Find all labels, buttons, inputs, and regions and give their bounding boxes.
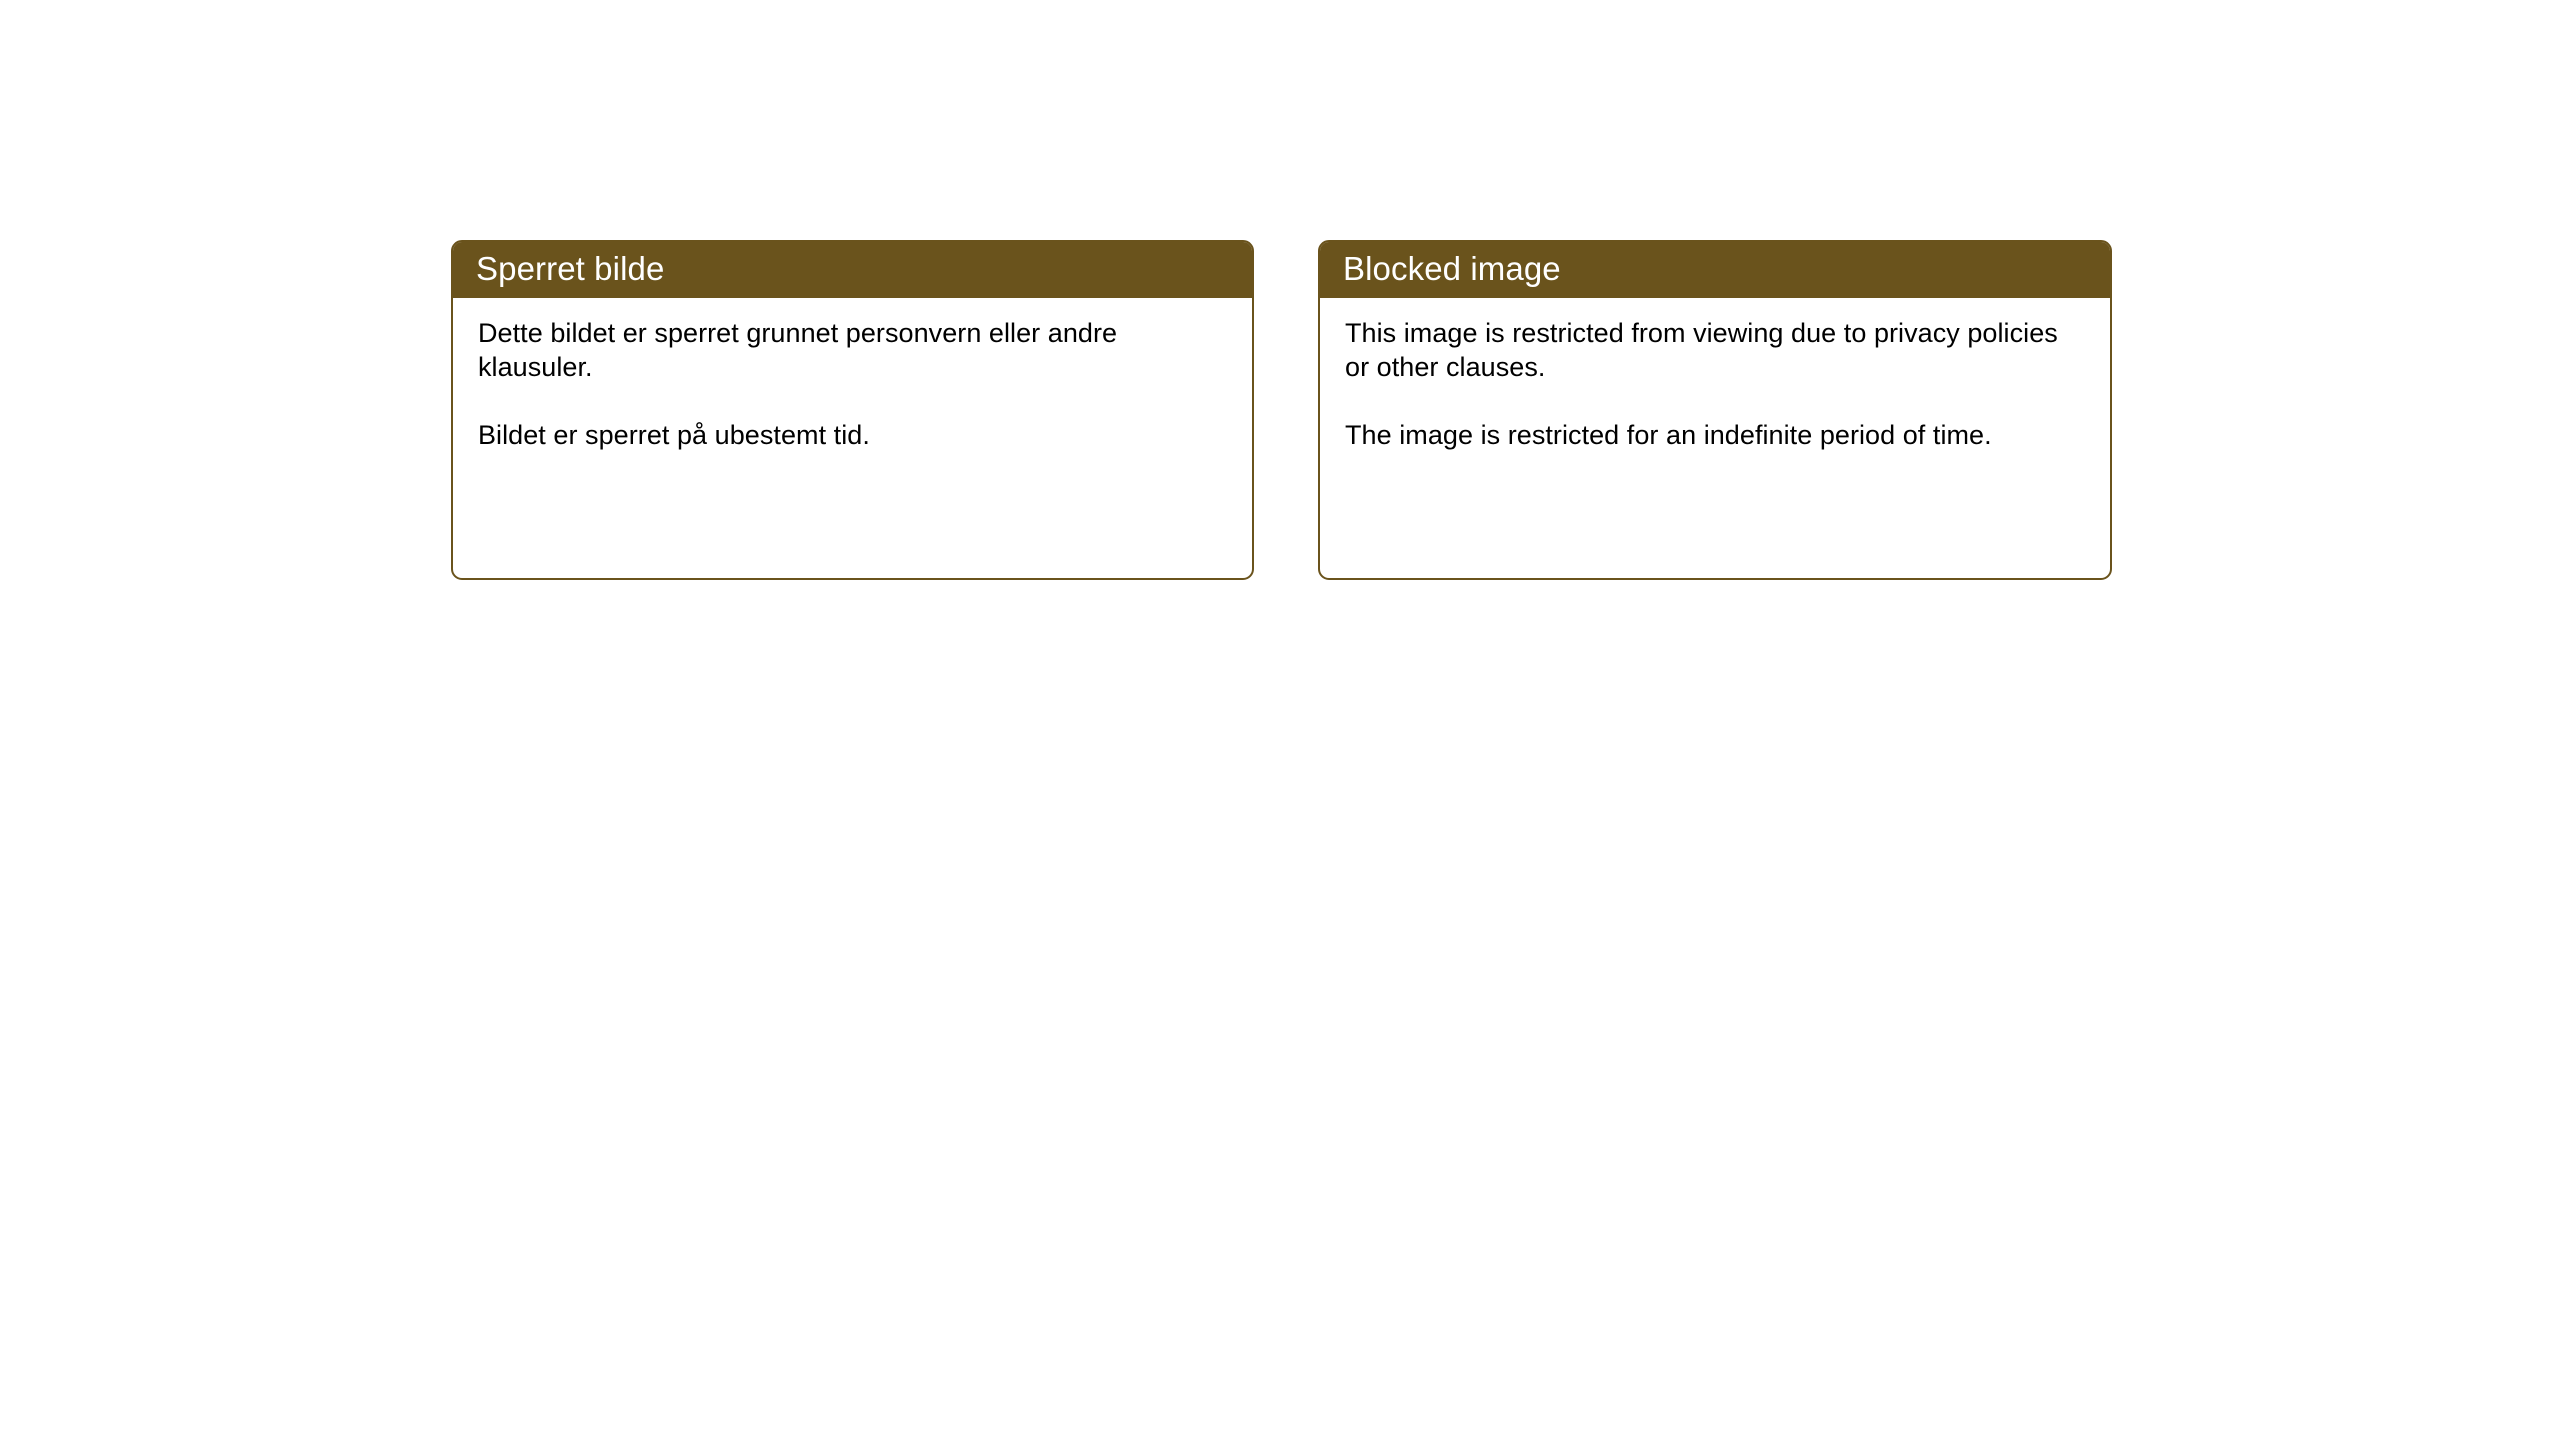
blocked-image-notice-norwegian: Sperret bilde Dette bildet er sperret gr… — [451, 240, 1254, 580]
card-title-norwegian: Sperret bilde — [476, 251, 664, 287]
card-title-english: Blocked image — [1343, 251, 1561, 287]
card-paragraph-duration-english: The image is restricted for an indefinit… — [1345, 418, 2086, 452]
card-header-english: Blocked image — [1318, 240, 2112, 298]
page-root: Sperret bilde Dette bildet er sperret gr… — [0, 0, 2560, 1440]
blocked-image-notice-english: Blocked image This image is restricted f… — [1318, 240, 2112, 580]
card-body-norwegian: Dette bildet er sperret grunnet personve… — [453, 298, 1252, 452]
card-paragraph-duration-norwegian: Bildet er sperret på ubestemt tid. — [478, 418, 1228, 452]
card-paragraph-reason-norwegian: Dette bildet er sperret grunnet personve… — [478, 316, 1228, 384]
card-paragraph-reason-english: This image is restricted from viewing du… — [1345, 316, 2086, 384]
card-body-english: This image is restricted from viewing du… — [1320, 298, 2110, 452]
card-header-norwegian: Sperret bilde — [451, 240, 1254, 298]
